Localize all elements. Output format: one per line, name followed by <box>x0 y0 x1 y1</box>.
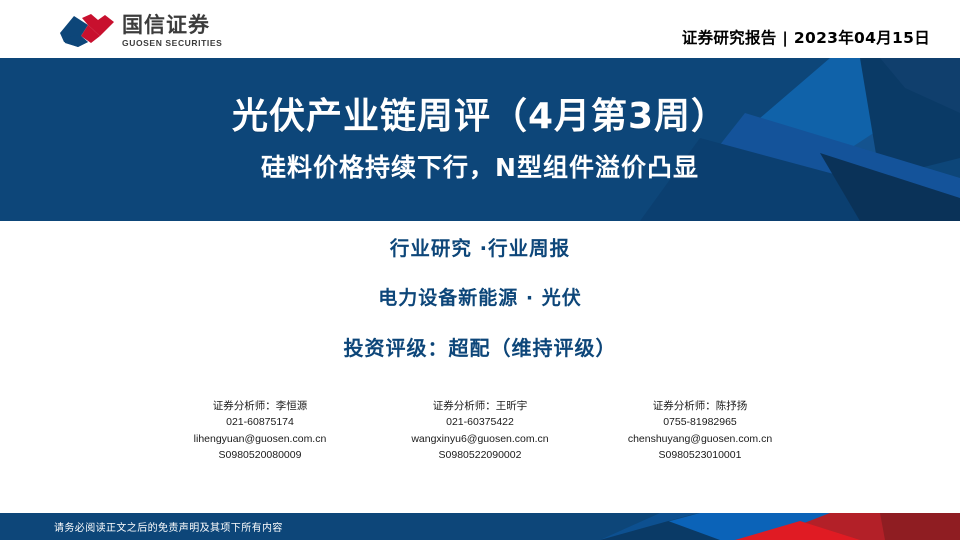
analyst-card: 证券分析师：陈抒扬 0755-81982965 chenshuyang@guos… <box>590 398 810 463</box>
page-subtitle: 硅料价格持续下行，N型组件溢价凸显 <box>261 154 699 182</box>
analyst-name: 证券分析师：李恒源 <box>150 398 370 414</box>
analyst-phone: 021-60875174 <box>150 414 370 430</box>
analyst-phone: 0755-81982965 <box>590 414 810 430</box>
analyst-phone: 021-60375422 <box>370 414 590 430</box>
company-logo: 国信证券 GUOSEN SECURITIES <box>58 11 233 51</box>
research-category: 行业研究 ·行业周报 <box>0 232 960 261</box>
logo-name-cn: 国信证券 <box>122 15 222 36</box>
title-banner: 光伏产业链周评（4月第3周） 硅料价格持续下行，N型组件溢价凸显 <box>0 58 960 221</box>
analyst-name: 证券分析师：陈抒扬 <box>590 398 810 414</box>
report-type-and-date: 证券研究报告 | 2023年04月15日 <box>682 26 930 48</box>
analyst-name: 证券分析师：王昕宇 <box>370 398 590 414</box>
footer-disclaimer: 请务必阅读正文之后的免责声明及其项下所有内容 <box>54 519 283 534</box>
logo-text-block: 国信证券 GUOSEN SECURITIES <box>122 15 222 48</box>
analyst-cert-number: S0980520080009 <box>150 447 370 463</box>
report-meta-block: 行业研究 ·行业周报 电力设备新能源 · 光伏 投资评级：超配（维持评级） <box>0 232 960 361</box>
analyst-email: wangxinyu6@guosen.com.cn <box>370 431 590 447</box>
analyst-email: lihengyuan@guosen.com.cn <box>150 431 370 447</box>
analyst-card: 证券分析师：李恒源 021-60875174 lihengyuan@guosen… <box>150 398 370 463</box>
analyst-cert-number: S0980522090002 <box>370 447 590 463</box>
analyst-email: chenshuyang@guosen.com.cn <box>590 431 810 447</box>
banner-text-block: 光伏产业链周评（4月第3周） 硅料价格持续下行，N型组件溢价凸显 <box>0 58 960 221</box>
investment-rating: 投资评级：超配（维持评级） <box>0 332 960 361</box>
analyst-list: 证券分析师：李恒源 021-60875174 lihengyuan@guosen… <box>150 398 810 463</box>
guosen-logo-icon <box>58 12 116 50</box>
analyst-card: 证券分析师：王昕宇 021-60375422 wangxinyu6@guosen… <box>370 398 590 463</box>
logo-name-en: GUOSEN SECURITIES <box>122 39 222 48</box>
page-header: 国信证券 GUOSEN SECURITIES 证券研究报告 | 2023年04月… <box>0 0 960 58</box>
report-cover-page: 国信证券 GUOSEN SECURITIES 证券研究报告 | 2023年04月… <box>0 0 960 540</box>
industry-sector: 电力设备新能源 · 光伏 <box>0 283 960 310</box>
page-footer: 请务必阅读正文之后的免责声明及其项下所有内容 <box>0 513 960 540</box>
analyst-cert-number: S0980523010001 <box>590 447 810 463</box>
page-title: 光伏产业链周评（4月第3周） <box>232 97 728 137</box>
